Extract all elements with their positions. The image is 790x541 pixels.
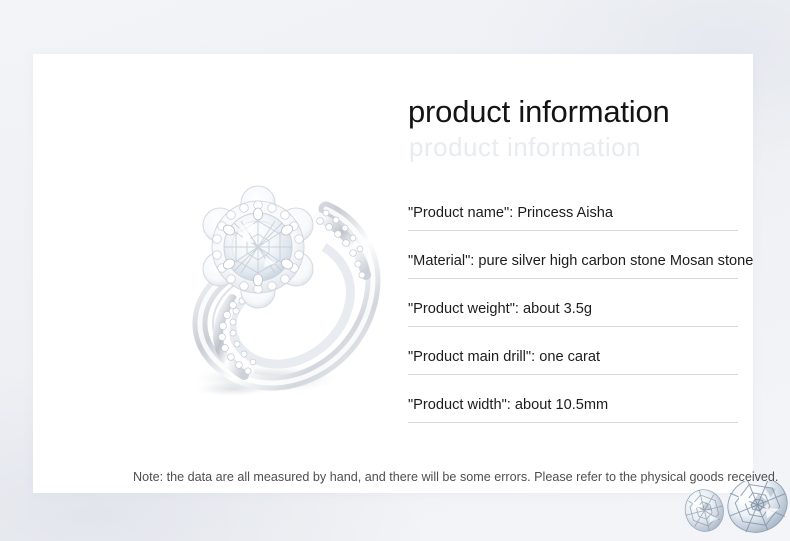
spec-text: "Product name": Princess Aisha: [408, 206, 613, 221]
spec-text: "Product width": about 10.5mm: [408, 398, 608, 413]
ring-product-photo: [140, 143, 408, 411]
spec-row-product-name: "Product name": Princess Aisha: [408, 183, 738, 231]
page-title: product information: [408, 95, 790, 129]
spec-row-product-main-drill: "Product main drill": one carat: [408, 327, 738, 375]
product-detail-screen: product information product information …: [0, 0, 790, 541]
product-info-card: product information product information …: [34, 55, 752, 492]
spec-row-material: "Material": pure silver high carbon ston…: [408, 231, 738, 279]
spec-text: "Material": pure silver high carbon ston…: [408, 254, 753, 269]
spec-row-product-width: "Product width": about 10.5mm: [408, 375, 738, 423]
spec-row-product-weight: "Product weight": about 3.5g: [408, 279, 738, 327]
measurement-note: Note: the data are all measured by hand,…: [133, 468, 781, 488]
spec-text: "Product weight": about 3.5g: [408, 302, 592, 317]
spec-text: "Product main drill": one carat: [408, 350, 600, 365]
product-information-panel: product information product information …: [408, 95, 790, 129]
product-spec-list: "Product name": Princess Aisha "Material…: [408, 183, 738, 423]
heading-ghost-watermark: product information: [409, 132, 641, 163]
